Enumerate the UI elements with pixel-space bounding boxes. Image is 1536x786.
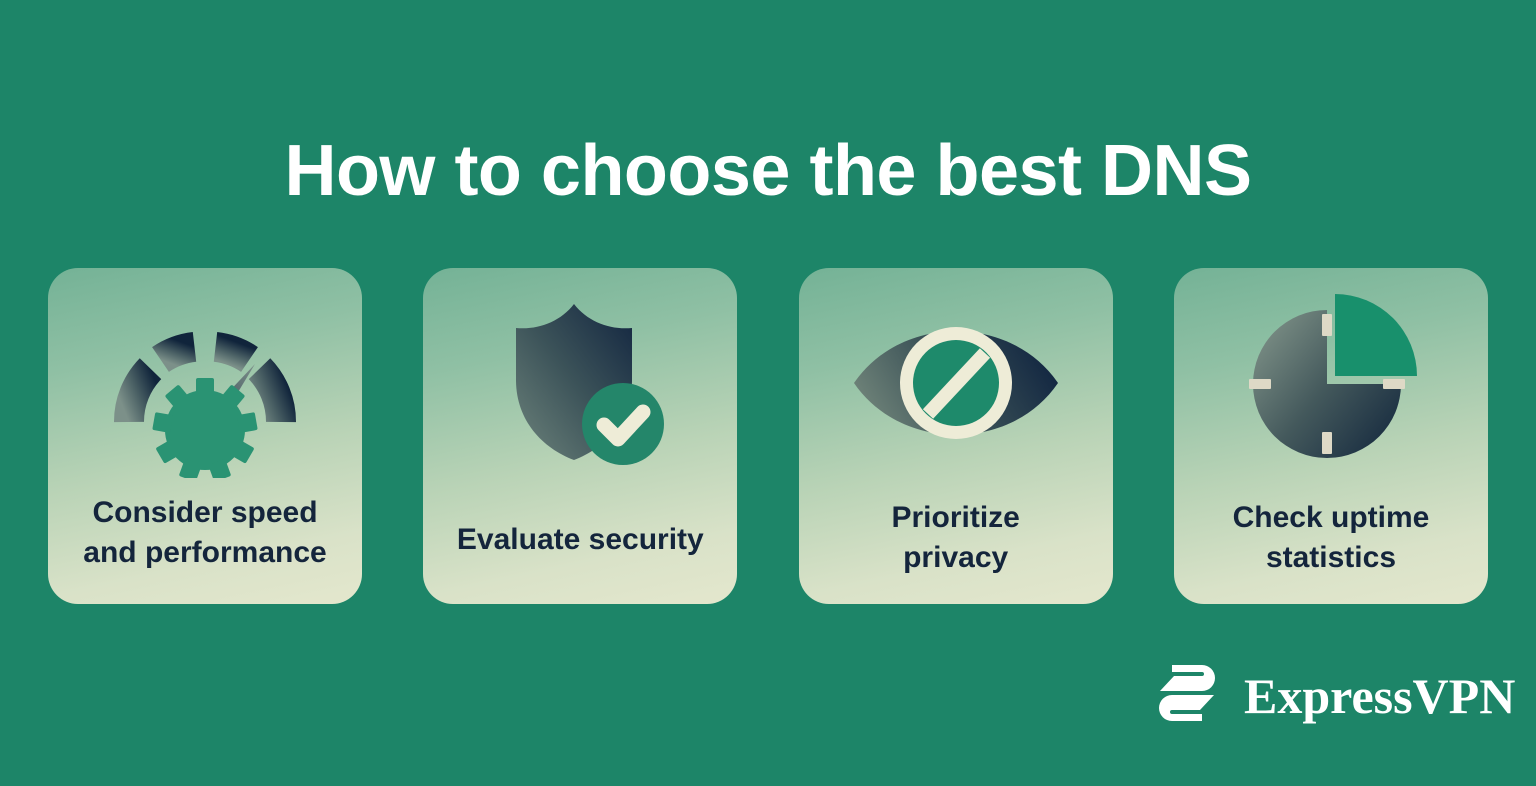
card-label-line2: privacy bbox=[811, 538, 1101, 578]
card-label-line1: Check uptime bbox=[1186, 498, 1476, 538]
pie-clock-icon bbox=[1174, 268, 1488, 498]
infographic-canvas: How to choose the best DNS bbox=[0, 0, 1536, 786]
brand-logo[interactable]: ExpressVPN bbox=[1152, 662, 1515, 729]
card-label-line1: Consider speed bbox=[60, 493, 350, 533]
card-prioritize-privacy[interactable]: Prioritize privacy bbox=[799, 268, 1113, 604]
card-label: Check uptime statistics bbox=[1186, 498, 1476, 578]
card-evaluate-security[interactable]: Evaluate security bbox=[423, 268, 737, 604]
card-label: Evaluate security bbox=[435, 520, 725, 560]
expressvpn-e-logo-icon bbox=[1152, 662, 1222, 729]
card-label-line2: statistics bbox=[1186, 538, 1476, 578]
card-label-line1: Evaluate security bbox=[435, 520, 725, 560]
card-label: Consider speed and performance bbox=[60, 493, 350, 573]
speedometer-gauge-icon bbox=[48, 268, 362, 498]
pie-green-segment bbox=[1335, 294, 1417, 376]
shield-check-icon bbox=[423, 268, 737, 498]
brand-wordmark: ExpressVPN bbox=[1244, 671, 1515, 721]
card-consider-speed[interactable]: Consider speed and performance bbox=[48, 268, 362, 604]
eye-blocked-icon bbox=[799, 268, 1113, 498]
card-label-line1: Prioritize bbox=[811, 498, 1101, 538]
card-check-uptime[interactable]: Check uptime statistics bbox=[1174, 268, 1488, 604]
feature-cards-row: Consider speed and performance bbox=[48, 268, 1488, 604]
card-label-line2: and performance bbox=[60, 533, 350, 573]
page-title: How to choose the best DNS bbox=[0, 132, 1536, 211]
card-label: Prioritize privacy bbox=[811, 498, 1101, 578]
